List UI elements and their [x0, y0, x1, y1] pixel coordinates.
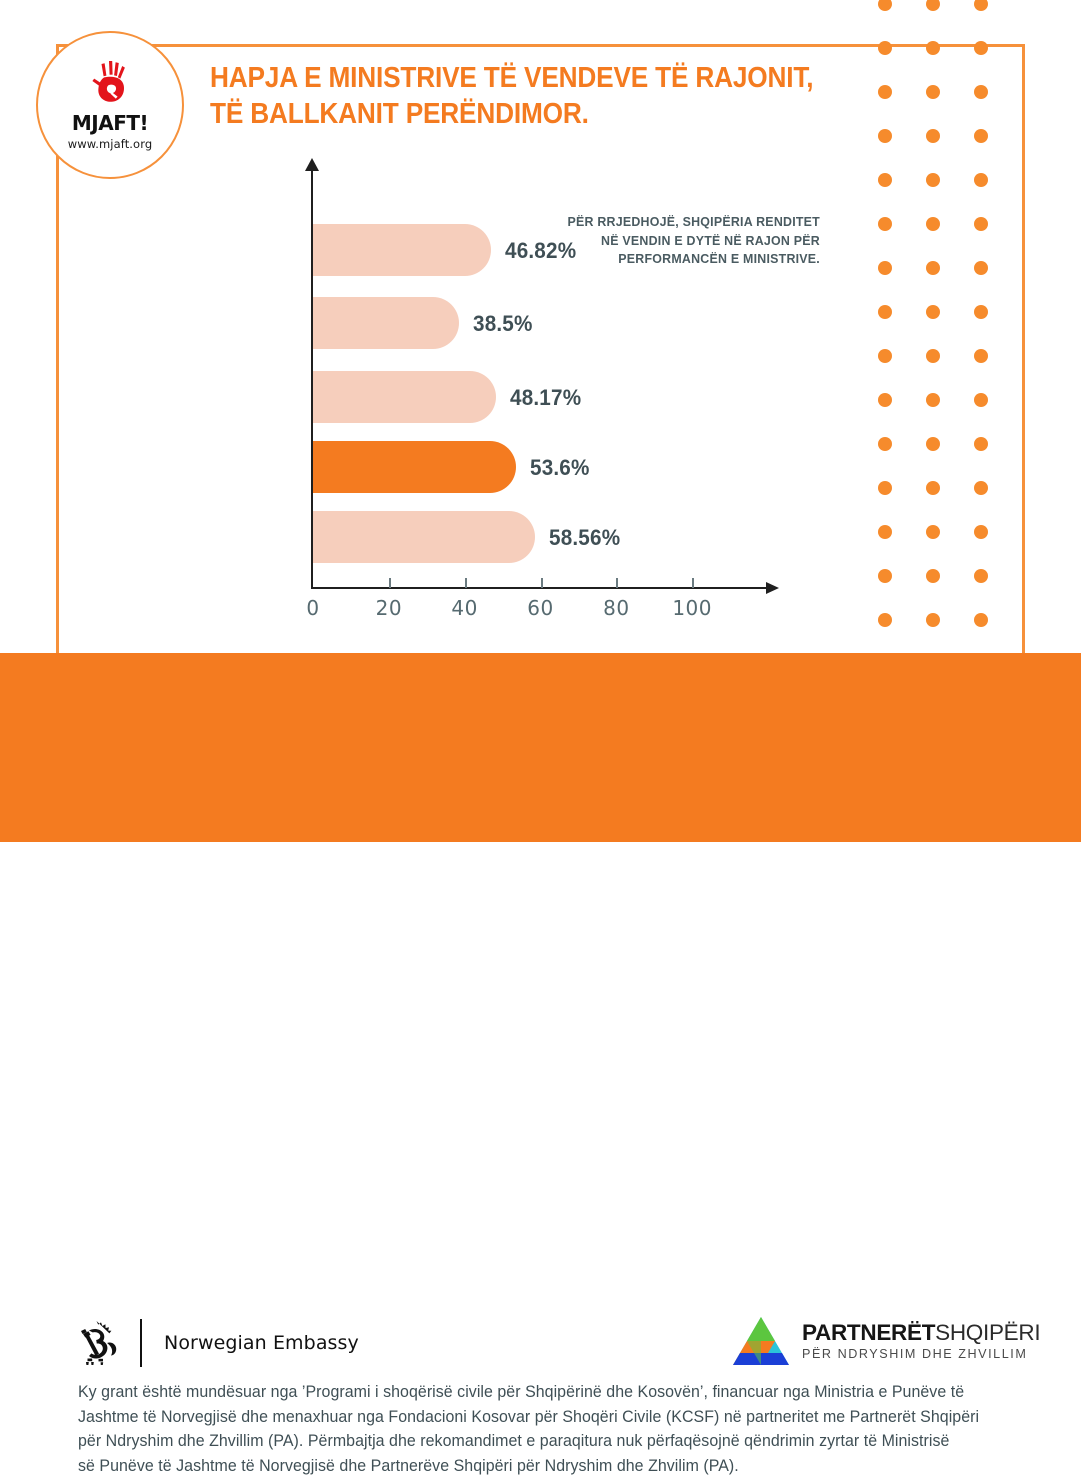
dot-decoration — [926, 261, 940, 275]
dot-decoration — [926, 393, 940, 407]
dot-decoration — [926, 349, 940, 363]
dot-decoration — [926, 173, 940, 187]
x-axis-line — [311, 587, 768, 589]
mjaft-logo-badge: MJAFT! www.mjaft.org — [36, 31, 184, 179]
disclaimer-line-1: Ky grant është mundësuar nga ’Programi i… — [78, 1380, 1009, 1405]
dot-decoration — [974, 437, 988, 451]
x-tick — [616, 578, 618, 588]
dot-decoration — [878, 525, 892, 539]
bar-value-label: 38.5% — [473, 311, 533, 337]
dot-decoration — [878, 481, 892, 495]
dot-decoration — [974, 613, 988, 627]
x-tick — [389, 578, 391, 588]
bar-value-label: 48.17% — [510, 385, 581, 411]
bar — [313, 441, 516, 493]
disclaimer-line-4: së Punëve të Jashtme të Norvegjisë dhe P… — [78, 1454, 1009, 1479]
dot-decoration — [974, 217, 988, 231]
bar — [313, 224, 491, 276]
dot-decoration — [974, 305, 988, 319]
dot-decoration — [926, 129, 940, 143]
norwegian-embassy-logo: Norwegian Embassy — [78, 1317, 359, 1369]
dot-decoration — [878, 393, 892, 407]
dot-decoration — [878, 217, 892, 231]
dot-decoration — [974, 129, 988, 143]
dot-decoration — [878, 613, 892, 627]
dot-decoration — [878, 437, 892, 451]
bar — [313, 371, 496, 423]
dot-decoration — [878, 305, 892, 319]
chart-annotation: PËR RRJEDHOJË, SHQIPËRIA RENDITET NË VEN… — [562, 213, 821, 269]
annotation-line-2: NË VENDIN E DYTË NË RAJON PËR — [562, 232, 821, 251]
red-hand-print-icon — [84, 60, 136, 110]
y-axis-arrow — [305, 158, 319, 171]
x-axis-arrow — [766, 582, 779, 594]
disclaimer-line-3: për Ndryshim dhe Zhvillim (PA). Përmbajt… — [78, 1429, 1009, 1454]
embassy-divider — [140, 1319, 142, 1367]
x-tick-label: 20 — [376, 596, 402, 620]
dot-decoration — [974, 41, 988, 55]
dot-decoration — [926, 217, 940, 231]
dot-decoration — [974, 525, 988, 539]
bar-value-label: 58.56% — [549, 525, 620, 551]
dot-decoration — [878, 569, 892, 583]
x-tick-label: 80 — [603, 596, 629, 620]
dot-decoration — [974, 173, 988, 187]
dot-decoration — [878, 173, 892, 187]
bar-value-label: 53.6% — [530, 455, 590, 481]
dot-decoration — [974, 569, 988, 583]
dot-decoration — [878, 349, 892, 363]
embassy-name: Norwegian Embassy — [164, 1332, 359, 1354]
x-tick-label: 40 — [451, 596, 477, 620]
dot-decoration — [878, 85, 892, 99]
x-tick-label: 60 — [527, 596, 553, 620]
norwegian-lion-crest-icon — [78, 1318, 122, 1368]
dot-decoration — [926, 569, 940, 583]
dot-decoration — [926, 85, 940, 99]
x-tick — [465, 578, 467, 588]
disclaimer-line-2: Jashtme të Norvegjisë dhe menaxhuar nga … — [78, 1405, 1009, 1430]
dot-decoration — [926, 437, 940, 451]
dot-decoration — [974, 85, 988, 99]
mjaft-wordmark: MJAFT! — [72, 113, 148, 133]
dot-decoration — [878, 261, 892, 275]
dot-decoration — [974, 481, 988, 495]
x-tick-label: 100 — [672, 596, 712, 620]
x-tick — [692, 578, 694, 588]
dot-decoration — [926, 41, 940, 55]
annotation-line-1: PËR RRJEDHOJË, SHQIPËRIA RENDITET — [562, 213, 821, 232]
dot-decoration — [974, 261, 988, 275]
dot-decoration — [926, 525, 940, 539]
dot-decoration — [926, 305, 940, 319]
partneret-name-bold: PARTNERËT — [802, 1320, 935, 1345]
footer-bar: Norwegian Embassy PARTNERËTSHQIPËRI PËR … — [0, 653, 1081, 842]
partneret-triangle-icon — [731, 1315, 791, 1367]
annotation-line-3: PERFORMANCËN E MINISTRIVE. — [562, 250, 821, 269]
dot-decoration — [926, 481, 940, 495]
dot-decoration — [926, 613, 940, 627]
dot-decoration — [878, 41, 892, 55]
bar — [313, 297, 459, 349]
dot-decoration — [974, 349, 988, 363]
bar — [313, 511, 535, 563]
partneret-name-light: SHQIPËRI — [935, 1320, 1040, 1345]
dot-decoration — [878, 129, 892, 143]
dot-decoration — [974, 393, 988, 407]
partneret-logo: PARTNERËTSHQIPËRI PËR NDRYSHIM DHE ZHVIL… — [731, 1315, 1040, 1367]
x-tick-label: 0 — [306, 596, 319, 620]
partneret-name: PARTNERËTSHQIPËRI — [802, 1321, 1040, 1345]
mjaft-url: www.mjaft.org — [68, 137, 152, 151]
disclaimer-text: Ky grant është mundësuar nga ’Programi i… — [78, 1380, 1009, 1479]
partneret-wordmark: PARTNERËTSHQIPËRI PËR NDRYSHIM DHE ZHVIL… — [802, 1321, 1040, 1362]
x-tick — [541, 578, 543, 588]
partneret-tagline: PËR NDRYSHIM DHE ZHVILLIM — [802, 1347, 1040, 1361]
